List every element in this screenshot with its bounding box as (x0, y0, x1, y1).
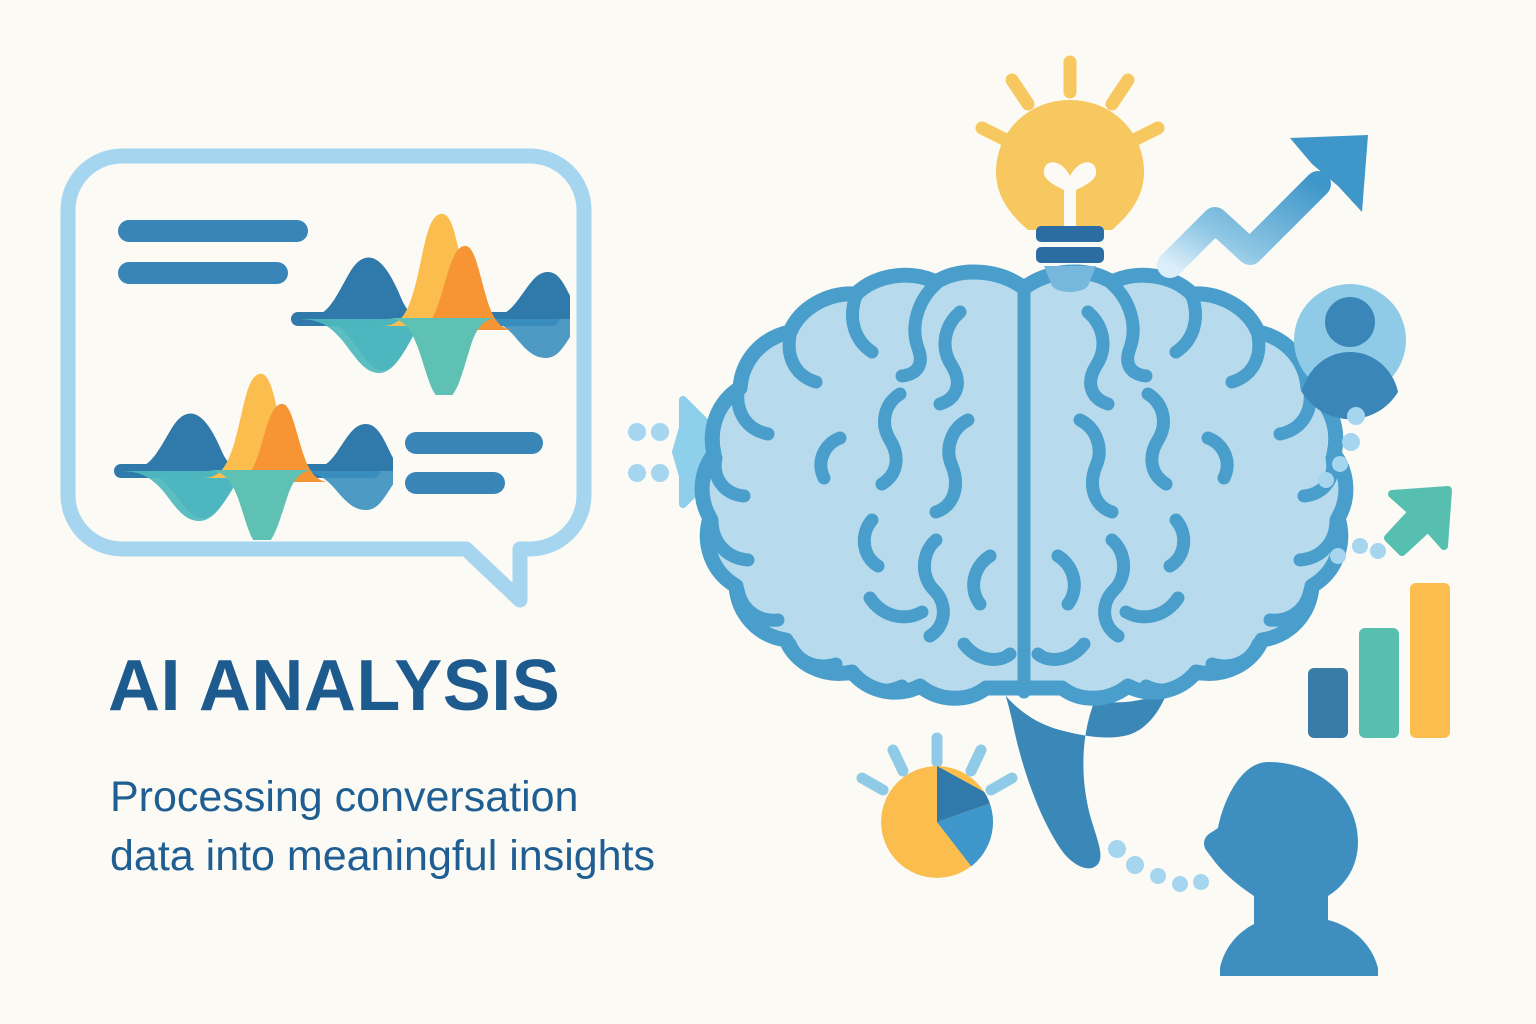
text-bar (405, 432, 543, 454)
page-title: AI ANALYSIS (108, 650, 868, 722)
pie-ray (971, 750, 981, 771)
trail-dot (1193, 874, 1209, 890)
trail-dot (1150, 868, 1166, 884)
teal-arrow-shape (1388, 490, 1448, 552)
trending-up-arrow-icon[interactable] (1170, 135, 1368, 265)
trail-dot (1172, 876, 1188, 892)
subtitle-line-2: data into meaningful insights (110, 827, 850, 886)
lightbulb-ray (982, 128, 1006, 140)
lightbulb-base-band (1036, 247, 1104, 263)
bar-chart-icon[interactable] (1308, 583, 1450, 738)
head-silhouette-shape (1204, 762, 1378, 976)
flow-dot (628, 423, 646, 441)
trail-dot (1318, 472, 1334, 488)
pie-ray (893, 750, 903, 771)
lightbulb-ray (1112, 80, 1128, 104)
user-avatar-icon[interactable] (1294, 284, 1406, 419)
bar-chart-bar (1308, 668, 1348, 738)
trending-arrow-line (1170, 184, 1318, 265)
pie-ray (991, 778, 1012, 790)
pie-chart-icon[interactable] (862, 738, 1012, 884)
bar-chart-bar (1359, 628, 1399, 738)
text-bar (405, 472, 505, 494)
trail-dot (1108, 840, 1126, 858)
avatar-head (1325, 297, 1375, 347)
arrow-up-right-icon[interactable] (1388, 490, 1448, 552)
dot-trail-brain-to-head (1108, 840, 1209, 892)
waveform-series-blue-right (300, 424, 418, 471)
pie-ray (862, 778, 883, 790)
trail-dot (1352, 538, 1368, 554)
pie-chart-slices (881, 766, 999, 884)
lightbulb-base-band (1036, 226, 1104, 242)
flow-dot (651, 423, 669, 441)
trail-dot (1342, 433, 1360, 451)
waveform-top (291, 214, 600, 400)
text-bar (118, 262, 288, 284)
flow-dot (628, 464, 646, 482)
text-bar (118, 220, 308, 242)
trail-dot (1126, 856, 1144, 874)
lightbulb-ray (1134, 128, 1158, 140)
waveform-bottom (114, 374, 418, 546)
trail-dot (1370, 543, 1386, 559)
trail-dot (1330, 548, 1346, 564)
bar-chart-bar (1410, 583, 1450, 738)
lightbulb-icon[interactable] (982, 62, 1158, 292)
page-subtitle: Processing conversation data into meanin… (110, 768, 850, 887)
illustration-canvas: AI ANALYSIS Processing conversation data… (0, 0, 1536, 1024)
person-head-silhouette-icon[interactable] (1204, 762, 1378, 976)
trail-dot (1347, 407, 1365, 425)
subtitle-line-1: Processing conversation (110, 768, 850, 827)
lightbulb-ray (1012, 80, 1028, 104)
trail-dot (1332, 456, 1348, 472)
flow-dot (651, 464, 669, 482)
